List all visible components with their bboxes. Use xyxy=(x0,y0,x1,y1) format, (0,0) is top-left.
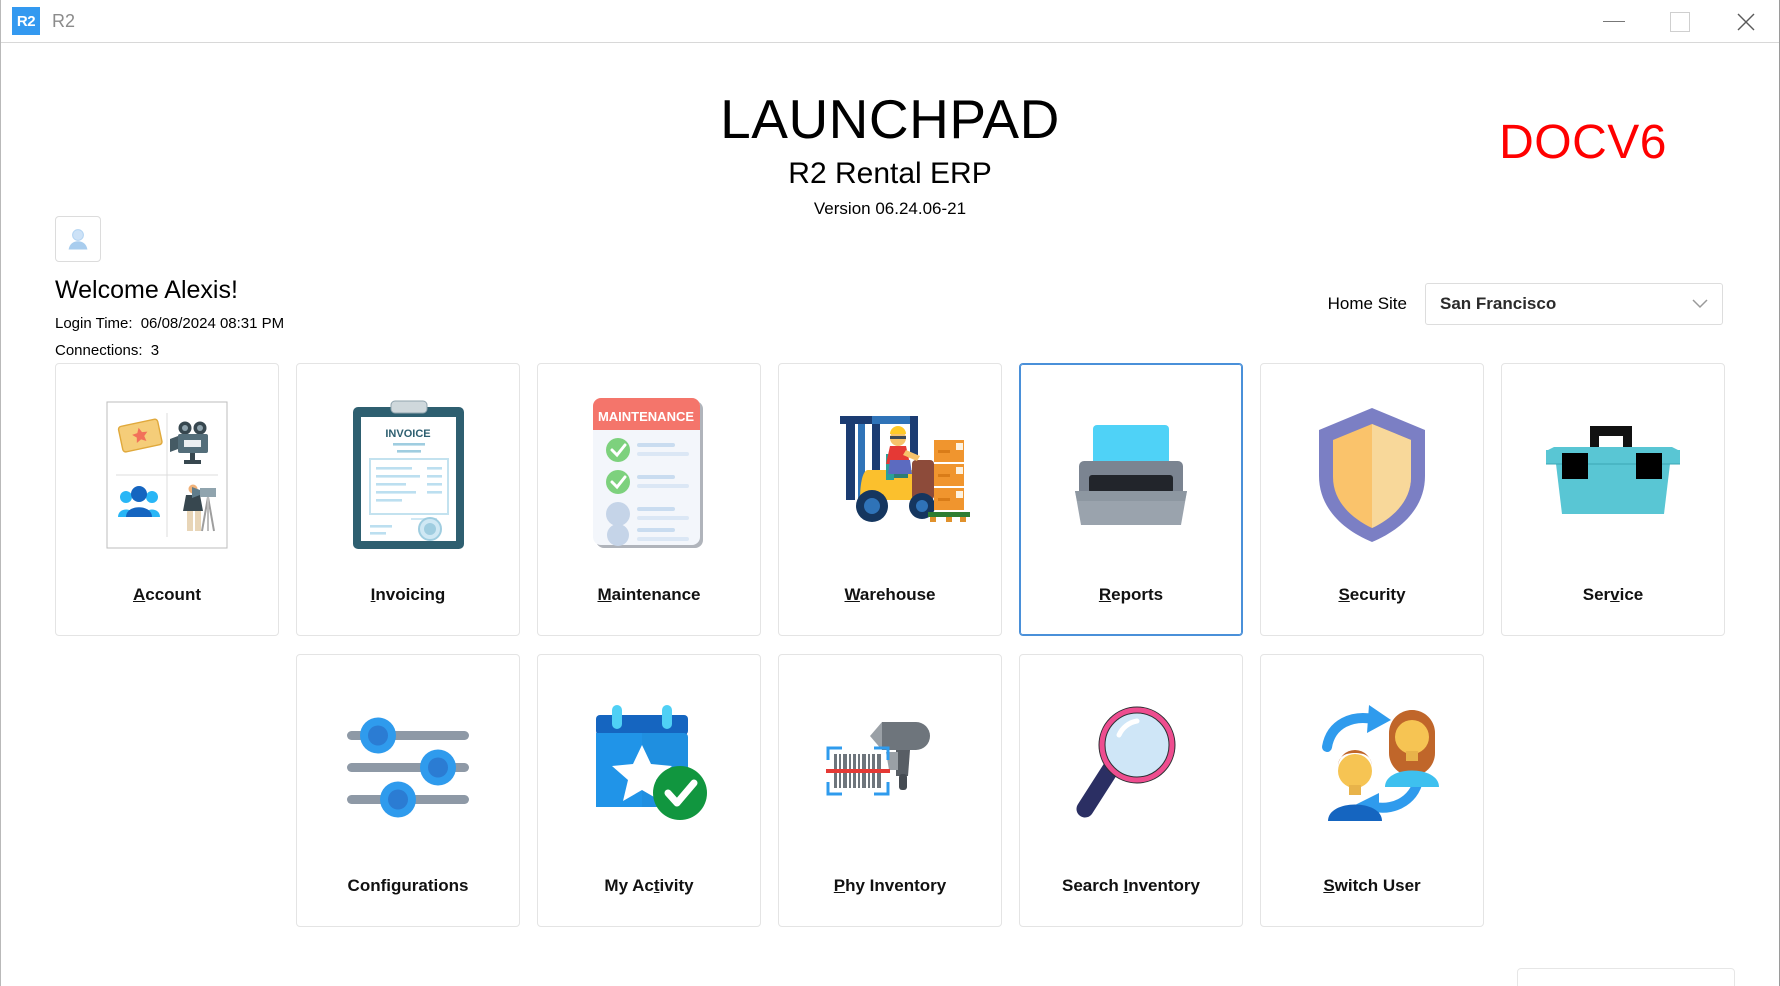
tile-phy-inventory[interactable]: Phy Inventory xyxy=(778,654,1002,927)
tile-my-activity[interactable]: My Activity xyxy=(537,654,761,927)
tile-label-maintenance: Maintenance xyxy=(598,585,701,605)
tile-label-switch-user: Switch User xyxy=(1323,876,1420,896)
svg-text:INVOICE: INVOICE xyxy=(385,428,430,440)
maximize-button[interactable] xyxy=(1647,0,1713,43)
svg-text:MAINTENANCE: MAINTENANCE xyxy=(597,409,693,424)
welcome-text: Welcome Alexis! xyxy=(55,276,284,305)
minimize-icon xyxy=(1603,21,1625,22)
tile-security[interactable]: Security xyxy=(1260,363,1484,636)
chevron-down-icon xyxy=(1692,299,1708,309)
tile-label-my-activity: My Activity xyxy=(604,876,693,896)
window-controls xyxy=(1581,0,1779,43)
toolbox-icon xyxy=(1502,364,1724,585)
account-quadrant-icon xyxy=(56,364,278,585)
close-icon xyxy=(1735,11,1757,33)
connections-label: Connections: xyxy=(55,342,143,359)
tile-label-configurations: Configurations xyxy=(348,876,469,896)
user-avatar-icon xyxy=(64,225,92,253)
sliders-icon xyxy=(297,655,519,876)
tile-row-1: Account INVOICE xyxy=(1,363,1779,636)
home-site-value: San Francisco xyxy=(1440,294,1556,314)
tile-maintenance[interactable]: MAINTENANCE xyxy=(537,363,761,636)
user-block: Welcome Alexis! Login Time: 06/08/2024 0… xyxy=(55,216,284,359)
doc-version-badge: DOCV6 xyxy=(1499,115,1667,170)
printer-icon xyxy=(1020,364,1242,585)
tile-label-security: Security xyxy=(1338,585,1405,605)
calendar-check-icon xyxy=(538,655,760,876)
login-time-line: Login Time: 06/08/2024 08:31 PM xyxy=(55,315,284,332)
tile-search-inventory[interactable]: Search Inventory xyxy=(1019,654,1243,927)
connections-value: 3 xyxy=(151,342,159,359)
tile-invoicing[interactable]: INVOICE xyxy=(296,363,520,636)
shield-icon xyxy=(1261,364,1483,585)
header: LAUNCHPAD R2 Rental ERP Version 06.24.06… xyxy=(1,43,1779,293)
bottom-right-panel-stub xyxy=(1517,968,1735,986)
magnifier-icon xyxy=(1020,655,1242,876)
barcode-scanner-icon xyxy=(779,655,1001,876)
tile-label-search-inventory: Search Inventory xyxy=(1062,876,1200,896)
tile-row-2: Configurations My Activity xyxy=(1,654,1779,927)
maximize-icon xyxy=(1670,12,1690,32)
home-site-label: Home Site xyxy=(1328,294,1407,314)
app-window: R2 R2 LAUNCHPAD R2 Rental ERP Version 06… xyxy=(0,0,1780,986)
tile-label-service: Service xyxy=(1583,585,1644,605)
tile-label-invoicing: Invoicing xyxy=(371,585,446,605)
close-button[interactable] xyxy=(1713,0,1779,43)
tile-label-account: Account xyxy=(133,585,201,605)
switch-user-icon xyxy=(1261,655,1483,876)
tile-configurations[interactable]: Configurations xyxy=(296,654,520,927)
tile-warehouse[interactable]: Warehouse xyxy=(778,363,1002,636)
tile-label-phy-inventory: Phy Inventory xyxy=(834,876,946,896)
login-time-label: Login Time: xyxy=(55,315,133,332)
tile-switch-user[interactable]: Switch User xyxy=(1260,654,1484,927)
title-bar: R2 R2 xyxy=(1,0,1779,43)
forklift-icon xyxy=(779,364,1001,585)
avatar[interactable] xyxy=(55,216,101,262)
minimize-button[interactable] xyxy=(1581,0,1647,43)
tile-label-warehouse: Warehouse xyxy=(844,585,935,605)
app-logo-icon: R2 xyxy=(12,7,40,35)
tile-service[interactable]: Service xyxy=(1501,363,1725,636)
home-site-group: Home Site San Francisco xyxy=(1328,283,1723,325)
connections-line: Connections: 3 xyxy=(55,342,284,359)
launchpad-tiles: Account INVOICE xyxy=(1,363,1779,945)
login-time-value: 06/08/2024 08:31 PM xyxy=(141,315,284,332)
window-title: R2 xyxy=(52,11,75,32)
tile-label-reports: Reports xyxy=(1099,585,1163,605)
invoice-clipboard-icon: INVOICE xyxy=(297,364,519,585)
maintenance-checklist-icon: MAINTENANCE xyxy=(538,364,760,585)
home-site-select[interactable]: San Francisco xyxy=(1425,283,1723,325)
tile-reports[interactable]: Reports xyxy=(1019,363,1243,636)
tile-account[interactable]: Account xyxy=(55,363,279,636)
